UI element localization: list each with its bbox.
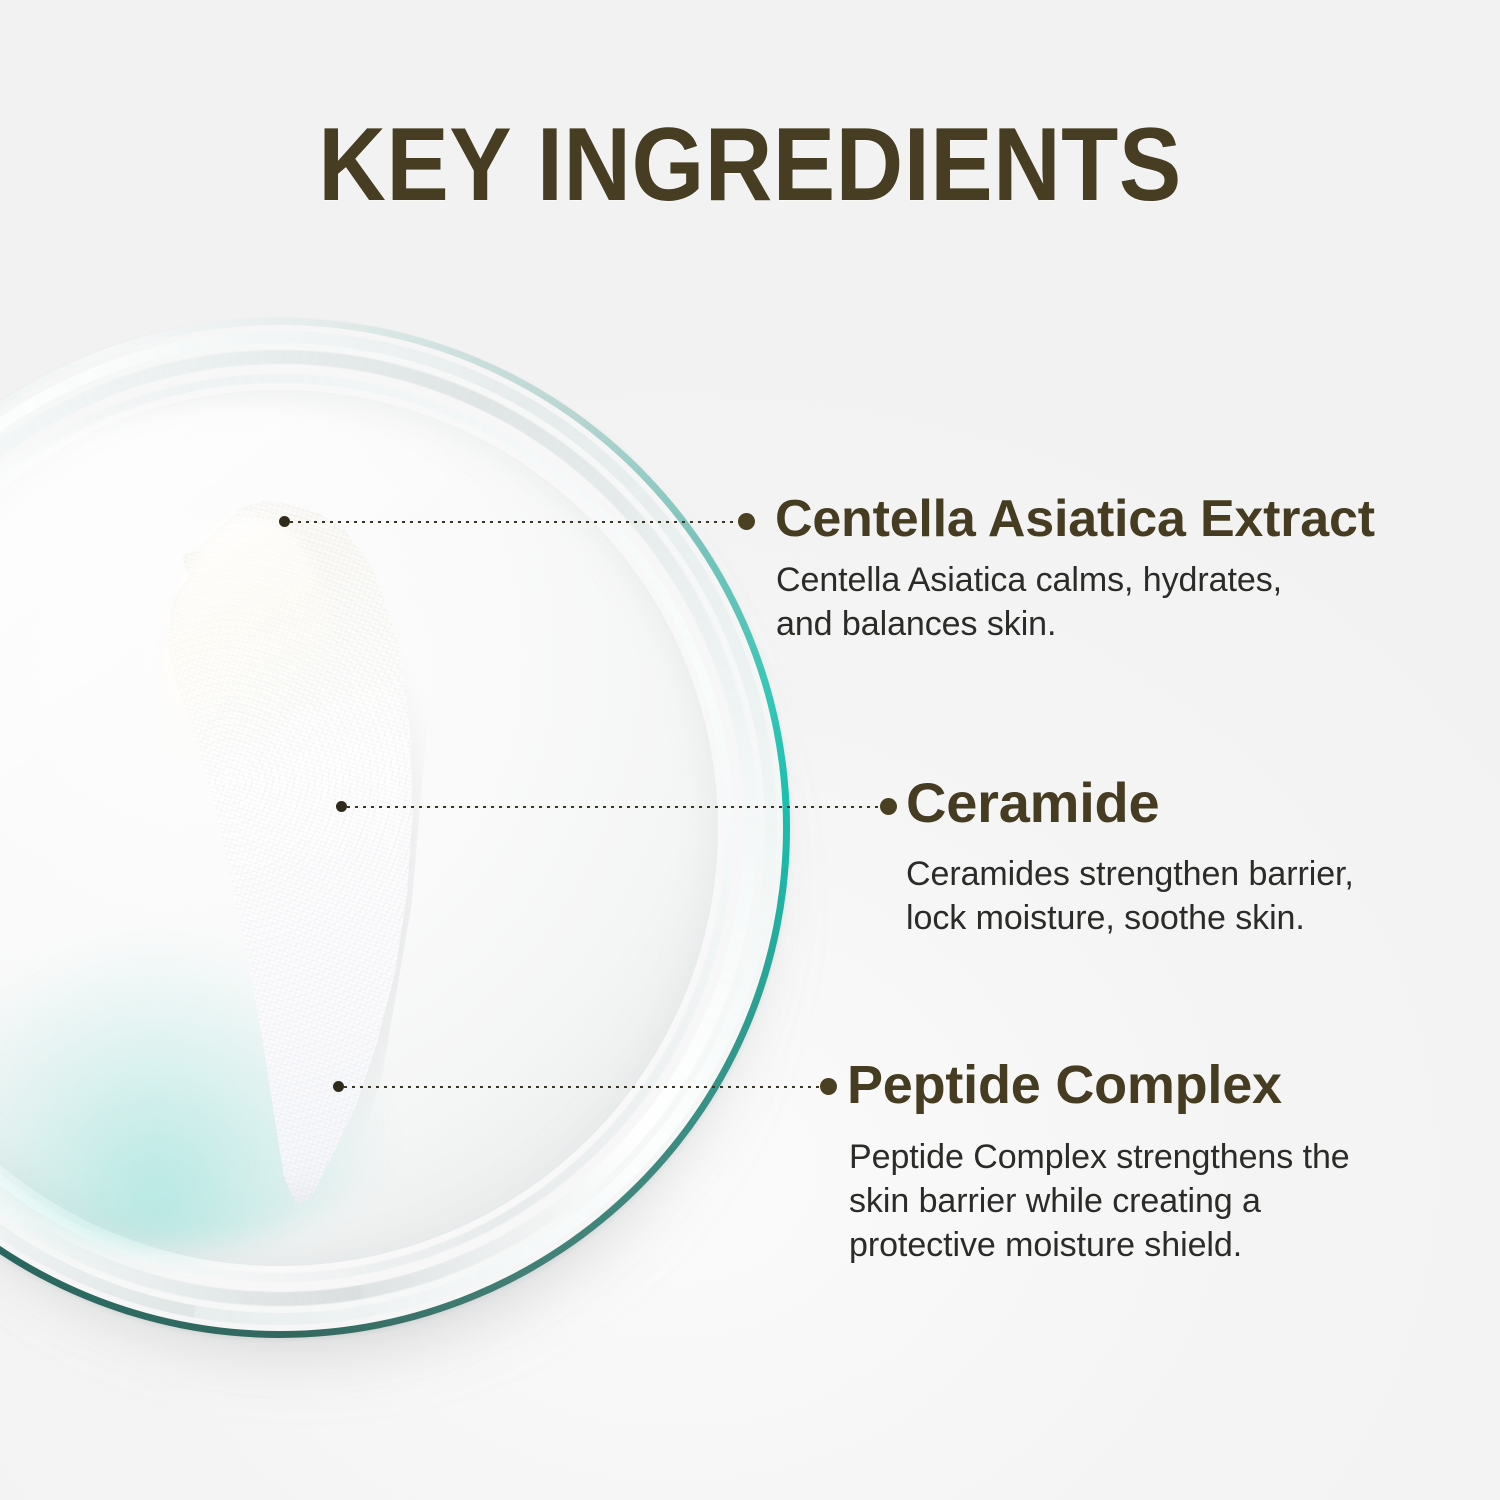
leader-origin-dot-centella xyxy=(279,516,290,527)
dish-drop-shadow xyxy=(0,370,771,1345)
ingredient-description-centella: Centella Asiatica calms, hydrates, and b… xyxy=(776,558,1282,646)
ingredient-title-centella: Centella Asiatica Extract xyxy=(775,493,1375,545)
leader-origin-dot-ceramide xyxy=(336,801,347,812)
key-ingredients-infographic: KEY INGREDIENTS Centella Asiatica Extrac… xyxy=(0,0,1500,1500)
page-title: KEY INGREDIENTS xyxy=(75,112,1425,218)
cream-swatch-body xyxy=(140,500,440,1205)
bullet-centella xyxy=(738,513,755,530)
dish-glass-band-one xyxy=(0,331,777,1325)
bullet-peptide xyxy=(820,1078,837,1095)
dish-glass-band-two xyxy=(0,350,758,1306)
leader-line-centella xyxy=(290,521,740,523)
leader-line-peptide xyxy=(344,1086,822,1088)
bullet-ceramide xyxy=(880,798,897,815)
dish-teal-glow xyxy=(0,918,410,1248)
petri-dish-illustration xyxy=(0,318,790,1338)
cream-swatch xyxy=(140,500,440,1205)
cream-swatch-shadow xyxy=(162,514,452,1214)
ingredient-title-peptide: Peptide Complex xyxy=(847,1058,1282,1112)
cream-swatch-texture xyxy=(140,500,440,1205)
leader-origin-dot-peptide xyxy=(333,1081,344,1092)
ingredient-description-ceramide: Ceramides strengthen barrier, lock moist… xyxy=(906,852,1354,940)
dish-soft-shadow xyxy=(0,428,764,1358)
ingredient-title-ceramide: Ceramide xyxy=(906,775,1159,831)
dish-outer-teal-rim xyxy=(0,318,790,1338)
dish-glass-band-three xyxy=(0,374,734,1282)
leader-line-ceramide xyxy=(347,806,882,808)
dish-specular-highlight xyxy=(0,404,582,964)
ingredient-description-peptide: Peptide Complex strengthens the skin bar… xyxy=(849,1135,1350,1268)
cream-swatch-sheen xyxy=(162,514,332,814)
